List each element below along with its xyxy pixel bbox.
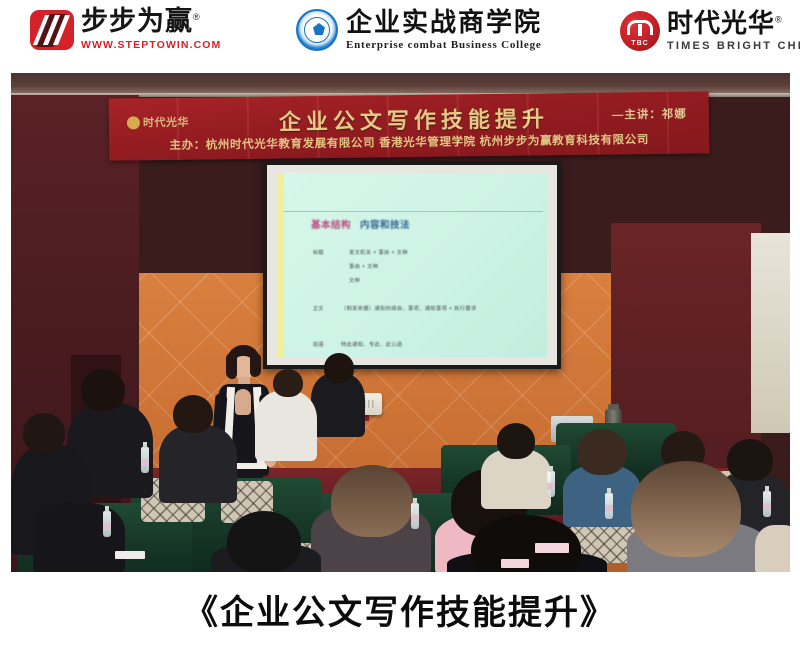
attendee-head-right-4 [727,439,773,481]
attendee-head-left-2 [23,413,65,453]
attendee-head-left-1 [81,369,125,411]
presentation-slide: 基本结构内容和技法 标题 发文机关 + 事由 + 文种 事由 + 文种 文种 正… [277,173,547,357]
course-title-caption: 《企业公文写作技能提升》 [184,585,616,634]
logo-steptowin: 步步为赢® WWW.STEPTOWIN.COM [30,8,221,51]
projection-screen: 基本结构内容和技法 标题 发文机关 + 事由 + 文种 事由 + 文种 文种 正… [263,161,561,369]
slide-row-text-3: （制发依据）通知的缘由、事项、通知事项 + 执行要求 [341,305,477,312]
screen-mat: 基本结构内容和技法 标题 发文机关 + 事由 + 文种 事由 + 文种 文种 正… [267,165,557,365]
slide-title: 基本结构内容和技法 [311,217,410,231]
logo-tbc-cn-title: 时代光华® [667,10,800,36]
slide-row-label-0: 标题 [313,249,323,256]
slide-row-text-2: 文种 [349,277,360,284]
attendee-head-center-2 [331,465,413,537]
logo-tbc-en-title: TIMES BRIGHT CHINA [667,40,800,52]
tbc-mark-label: TBC [620,40,660,47]
logo-college-en-title: Enterprise combat Business College [346,39,542,51]
water-bottle-5 [763,491,771,517]
slide-row-text-1: 事由 + 文种 [349,263,378,270]
logo-steptowin-url: WWW.STEPTOWIN.COM [81,39,221,51]
attendee-head-right-5 [631,461,741,557]
tbc-mark-icon: TBC [620,11,660,51]
logo-college-cn-title: 企业实战商学院 [346,9,542,35]
water-bottle-1 [141,447,149,473]
slide-accent-stripe [277,173,284,357]
water-bottle-2 [103,511,111,537]
attendee-head-center-1 [173,395,213,433]
registered-trademark-icon: ® [193,12,201,22]
presenter-hair-left [226,353,237,379]
handout-3 [501,559,529,568]
water-bottle-6 [547,471,555,497]
far-right-wall [751,233,790,433]
attendee-head-right-2 [577,429,627,475]
slide-divider [284,211,543,212]
presenter-hair-right [250,353,261,377]
slide-row-label-3: 正文 [313,305,323,312]
attendee-head-back-2 [273,369,303,397]
attendee-torso-back-2 [255,391,317,461]
handout-2 [535,543,569,553]
water-bottle-4 [605,493,613,519]
caption-area: 《企业公文写作技能提升》 [0,572,800,646]
seminar-photo: 时代光华 企业公文写作技能提升 —主讲：祁娜 主办：杭州时代光华教育发展有限公司… [11,73,790,572]
slide-row-label-4: 结语 [313,341,323,348]
presenter-inner-top [235,389,251,415]
banner-speaker: —主讲：祁娜 [612,106,687,123]
handout-1 [115,551,145,559]
logo-steptowin-cn-title: 步步为赢® [81,8,221,35]
attendee-torso-center-1 [159,425,237,503]
attendee-torso-right-7 [755,525,790,572]
attendee-head-right-1 [497,423,535,459]
slide-row-text-0: 发文机关 + 事由 + 文种 [349,249,408,256]
college-seal-icon [296,9,338,51]
steptowin-mark-icon [30,10,74,50]
logo-times-bright-china: TBC 时代光华® TIMES BRIGHT CHINA [620,10,800,52]
attendee-head-back-1 [324,353,354,383]
water-bottle-3 [411,503,419,529]
attendee-head-center-4 [227,511,301,572]
slide-title-part2: 内容和技法 [360,220,410,231]
logo-business-college: 企业实战商学院 Enterprise combat Business Colle… [296,9,542,51]
slide-row-text-4: 特此通知、专此、此公函 [341,341,402,348]
header-logo-bar: 步步为赢® WWW.STEPTOWIN.COM 企业实战商学院 Enterpri… [0,0,800,73]
registered-trademark-icon-2: ® [775,14,783,24]
attendee-torso-left-3 [33,503,125,572]
event-banner: 时代光华 企业公文写作技能提升 —主讲：祁娜 主办：杭州时代光华教育发展有限公司… [109,91,710,160]
slide-title-part1: 基本结构 [311,220,351,231]
